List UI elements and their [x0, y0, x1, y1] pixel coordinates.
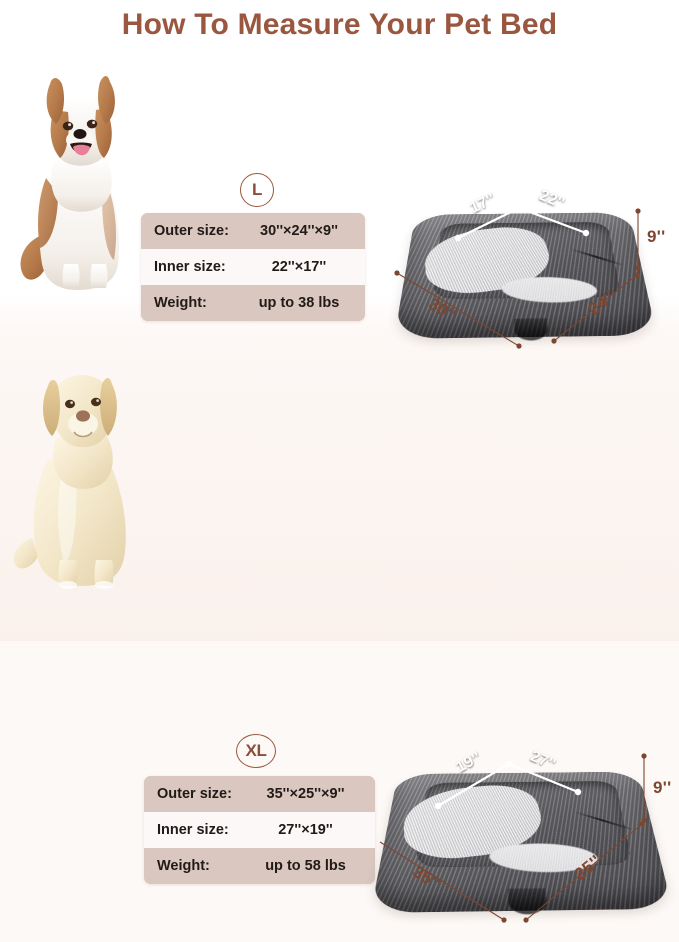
spec-value: 27''×19''	[244, 822, 375, 838]
yellow-labrador-dog-icon	[8, 352, 150, 592]
spec-value: up to 38 lbs	[241, 295, 365, 311]
spec-label: Inner size:	[141, 259, 241, 275]
dog-photo-xl	[8, 352, 150, 592]
spec-label: Outer size:	[144, 786, 244, 802]
size-badge-l: L	[240, 173, 274, 207]
table-row: Inner size: 27''×19''	[144, 812, 375, 848]
outer-dim-height-l: 9''	[647, 227, 665, 247]
table-row: Weight: up to 38 lbs	[141, 285, 365, 321]
table-row: Outer size: 35''×25''×9''	[144, 776, 375, 812]
table-row: Inner size: 22''×17''	[141, 249, 365, 285]
page-title: How To Measure Your Pet Bed	[0, 8, 679, 42]
table-row: Weight: up to 58 lbs	[144, 848, 375, 884]
pet-bed-xl	[370, 772, 672, 913]
pet-bed-image-l: 17'' 22'' 9'' 30'' 24''	[388, 163, 679, 363]
inner-dim-right-l: 22''	[537, 187, 568, 213]
spec-label: Weight:	[144, 858, 244, 874]
table-row: Outer size: 30''×24''×9''	[141, 213, 365, 249]
spec-value: up to 58 lbs	[244, 858, 375, 874]
size-badge-xl: XL	[236, 734, 276, 768]
spec-label: Weight:	[141, 295, 241, 311]
spec-table-xl: Outer size: 35''×25''×9'' Inner size: 27…	[144, 776, 375, 884]
pet-bed-image-xl: 19'' 27'' 9'' 35'' 25''	[378, 724, 679, 942]
spec-value: 22''×17''	[241, 259, 365, 275]
front-pleat	[514, 318, 548, 340]
front-pleat	[508, 888, 547, 914]
spec-table-l: Outer size: 30''×24''×9'' Inner size: 22…	[141, 213, 365, 321]
border-collie-dog-icon	[8, 68, 150, 298]
pet-bed-l	[394, 212, 657, 338]
spec-value: 30''×24''×9''	[241, 223, 365, 239]
size-section-l: L Outer size: 30''×24''×9'' Inner size: …	[0, 68, 679, 298]
size-section-xl: XL Outer size: 35''×25''×9'' Inner size:…	[0, 352, 679, 592]
dog-photo-l	[8, 68, 150, 298]
inner-dim-right-xl: 27''	[528, 748, 559, 775]
spec-value: 35''×25''×9''	[244, 786, 375, 802]
outer-dim-height-xl: 9''	[653, 778, 671, 798]
spec-label: Outer size:	[141, 223, 241, 239]
infographic-page: How To Measure Your Pet Bed	[0, 0, 679, 641]
spec-label: Inner size:	[144, 822, 244, 838]
